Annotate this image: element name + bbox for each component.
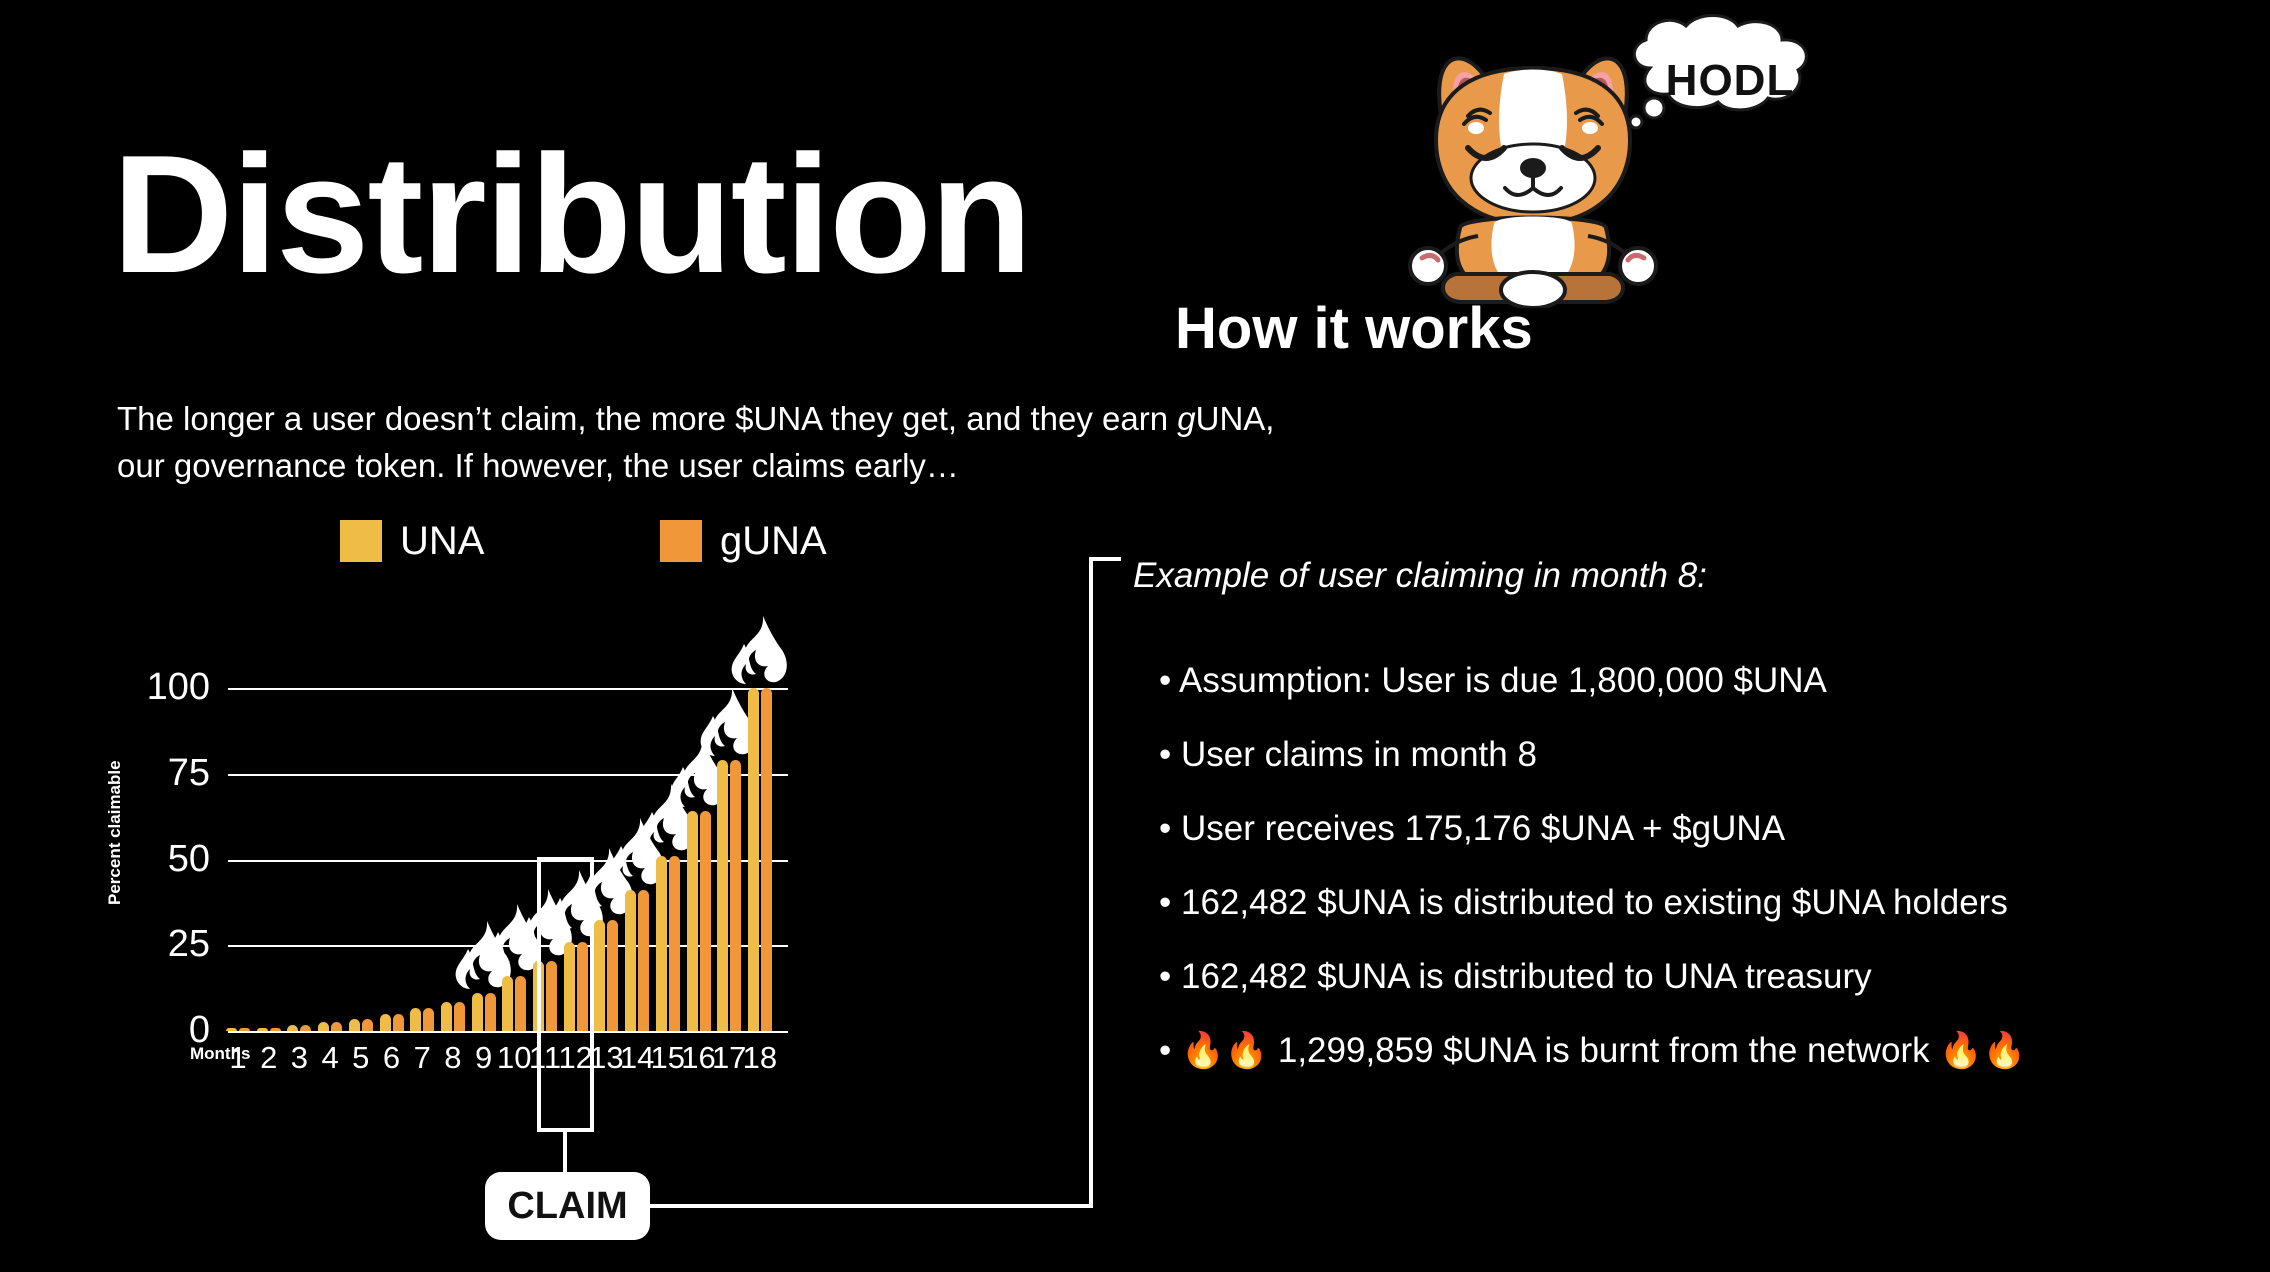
y-tick-75: 75 bbox=[124, 754, 210, 792]
bar-una-month-4 bbox=[318, 1022, 329, 1031]
bar-una-month-5 bbox=[349, 1019, 360, 1031]
bar-guna-month-13 bbox=[607, 920, 618, 1031]
example-bullet-4: • 162,482 $UNA is distributed to existin… bbox=[1133, 882, 2213, 924]
hodl-bubble-text: HODL bbox=[1650, 56, 1810, 106]
section-subtitle: How it works bbox=[1175, 300, 1533, 358]
bar-una-month-16 bbox=[687, 811, 698, 1031]
bar-una-month-8 bbox=[441, 1002, 452, 1031]
bar-guna-month-18 bbox=[761, 688, 772, 1031]
bar-guna-month-1 bbox=[239, 1028, 250, 1031]
bar-una-month-10 bbox=[502, 976, 513, 1031]
bar-una-month-14 bbox=[625, 890, 636, 1031]
example-bullet-6: • 🔥🔥 1,299,859 $UNA is burnt from the ne… bbox=[1133, 1030, 2213, 1072]
example-bullet-5: • 162,482 $UNA is distributed to UNA tre… bbox=[1133, 956, 2213, 998]
bar-guna-month-17 bbox=[730, 760, 741, 1031]
gridline-0 bbox=[228, 1031, 788, 1033]
y-axis-label: Percent claimable bbox=[105, 760, 125, 905]
y-tick-100: 100 bbox=[124, 668, 210, 706]
x-axis-label: Months bbox=[190, 1044, 250, 1064]
example-bullet-list: • Assumption: User is due 1,800,000 $UNA… bbox=[1133, 660, 2213, 1104]
bar-guna-month-9 bbox=[485, 993, 496, 1031]
bar-guna-month-10 bbox=[515, 976, 526, 1031]
bar-una-month-2 bbox=[257, 1028, 268, 1031]
bar-guna-month-16 bbox=[700, 811, 711, 1031]
bar-guna-month-5 bbox=[362, 1019, 373, 1031]
claim-highlight-box bbox=[537, 857, 594, 1132]
bar-una-month-18 bbox=[748, 688, 759, 1031]
example-bullet-1: • Assumption: User is due 1,800,000 $UNA bbox=[1133, 660, 2213, 702]
bar-una-month-15 bbox=[656, 856, 667, 1031]
bar-una-month-1 bbox=[226, 1028, 237, 1031]
bar-una-month-3 bbox=[287, 1025, 298, 1031]
example-bullet-3: • User receives 175,176 $UNA + $gUNA bbox=[1133, 808, 2213, 850]
bar-guna-month-3 bbox=[300, 1025, 311, 1031]
bar-guna-month-14 bbox=[638, 890, 649, 1031]
bar-una-month-7 bbox=[410, 1008, 421, 1031]
bar-guna-month-8 bbox=[454, 1002, 465, 1031]
claim-connector-stem bbox=[563, 1132, 567, 1177]
y-tick-50: 50 bbox=[124, 840, 210, 878]
claim-connector-horizontal bbox=[650, 1204, 1092, 1208]
claim-badge[interactable]: CLAIM bbox=[485, 1172, 650, 1240]
bar-guna-month-2 bbox=[270, 1028, 281, 1031]
lede-line1-g: g bbox=[1177, 400, 1195, 437]
bar-guna-month-15 bbox=[669, 856, 680, 1031]
bar-guna-month-7 bbox=[423, 1008, 434, 1031]
example-heading: Example of user claiming in month 8: bbox=[1133, 558, 1707, 593]
example-bracket-top bbox=[1089, 557, 1121, 561]
bar-una-month-9 bbox=[472, 993, 483, 1031]
flame-icon-month-18 bbox=[730, 614, 790, 691]
bar-una-month-17 bbox=[717, 760, 728, 1031]
bar-guna-month-6 bbox=[393, 1014, 404, 1031]
bar-guna-month-4 bbox=[331, 1022, 342, 1031]
example-bullet-2: • User claims in month 8 bbox=[1133, 734, 2213, 776]
bar-una-month-13 bbox=[594, 920, 605, 1031]
y-tick-25: 25 bbox=[124, 925, 210, 963]
x-tick-month-18: 18 bbox=[735, 1042, 785, 1073]
bar-una-month-6 bbox=[380, 1014, 391, 1031]
example-bracket-vertical bbox=[1089, 557, 1093, 1208]
lede-line1-part-b: UNA, bbox=[1196, 400, 1275, 437]
